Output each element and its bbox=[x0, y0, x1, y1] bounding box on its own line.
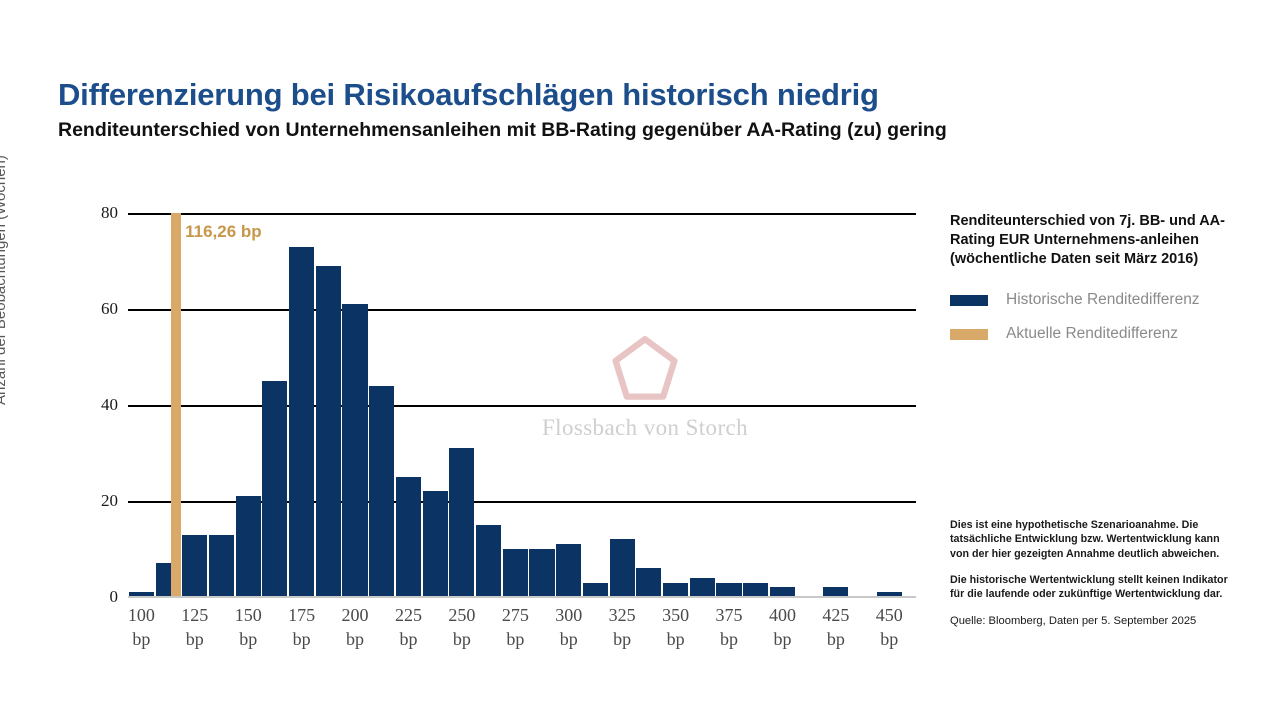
bar bbox=[423, 491, 448, 597]
bar bbox=[476, 525, 501, 597]
x-tick-label: 350bp bbox=[662, 604, 689, 652]
legend-label: Historische Renditedifferenz bbox=[1006, 291, 1200, 309]
legend-title: Renditeunterschied von 7j. BB- und AA-Ra… bbox=[950, 212, 1240, 269]
bar bbox=[690, 578, 715, 597]
bar bbox=[449, 448, 474, 597]
bar bbox=[182, 535, 207, 597]
legend-item[interactable]: Aktuelle Renditedifferenz bbox=[950, 325, 1240, 343]
current-value-marker bbox=[171, 213, 181, 597]
x-tick-label: 375bp bbox=[716, 604, 743, 652]
x-tick-label: 175bp bbox=[288, 604, 315, 652]
x-tick-label: 325bp bbox=[609, 604, 636, 652]
current-value-marker-label: 116,26 bp bbox=[185, 222, 262, 242]
disclaimer-paragraph: Dies ist eine hypothetische Szenarioanah… bbox=[950, 518, 1240, 561]
bar bbox=[529, 549, 554, 597]
bar bbox=[503, 549, 528, 597]
disclaimer-block: Dies ist eine hypothetische Szenarioanah… bbox=[950, 518, 1240, 628]
bar bbox=[556, 544, 581, 597]
y-axis-title: Anzahl der Beobachtungen (Wochen) bbox=[0, 75, 9, 405]
legend-panel: Renditeunterschied von 7j. BB- und AA-Ra… bbox=[950, 212, 1240, 359]
bar bbox=[636, 568, 661, 597]
x-tick-label: 275bp bbox=[502, 604, 529, 652]
legend-items: Historische RenditedifferenzAktuelle Ren… bbox=[950, 291, 1240, 343]
bar bbox=[316, 266, 341, 597]
bar bbox=[236, 496, 261, 597]
x-tick-label: 300bp bbox=[555, 604, 582, 652]
disclaimer-paragraph: Die historische Wertentwicklung stellt k… bbox=[950, 573, 1240, 602]
bar bbox=[262, 381, 287, 597]
bar bbox=[289, 247, 314, 597]
x-tick-label: 450bp bbox=[876, 604, 903, 652]
x-tick-label: 100bp bbox=[128, 604, 155, 652]
x-tick-label: 425bp bbox=[822, 604, 849, 652]
legend-swatch-icon bbox=[950, 329, 988, 340]
disclaimer-paragraphs: Dies ist eine hypothetische Szenarioanah… bbox=[950, 518, 1240, 602]
legend-swatch-icon bbox=[950, 295, 988, 306]
bar bbox=[396, 477, 421, 597]
bar bbox=[716, 583, 741, 597]
plot-area bbox=[128, 213, 916, 597]
y-tick-label: 0 bbox=[110, 587, 119, 607]
y-tick-label: 60 bbox=[101, 299, 118, 319]
x-tick-label: 250bp bbox=[448, 604, 475, 652]
legend-item[interactable]: Historische Renditedifferenz bbox=[950, 291, 1240, 309]
x-tick-label: 200bp bbox=[342, 604, 369, 652]
x-tick-label: 400bp bbox=[769, 604, 796, 652]
bar bbox=[369, 386, 394, 597]
bar-series bbox=[128, 213, 916, 597]
y-tick-label: 40 bbox=[101, 395, 118, 415]
y-tick-label: 20 bbox=[101, 491, 118, 511]
bar bbox=[663, 583, 688, 597]
bar bbox=[610, 539, 635, 597]
bar bbox=[743, 583, 768, 597]
x-tick-label: 150bp bbox=[235, 604, 262, 652]
bar bbox=[209, 535, 234, 597]
legend-label: Aktuelle Renditedifferenz bbox=[1006, 325, 1178, 343]
source-note: Quelle: Bloomberg, Daten per 5. Septembe… bbox=[950, 614, 1240, 629]
x-axis-tick-labels: 100bp125bp150bp175bp200bp225bp250bp275bp… bbox=[128, 604, 916, 660]
bar bbox=[342, 304, 367, 597]
x-axis-baseline bbox=[128, 596, 916, 597]
y-axis-tick-labels: 020406080 bbox=[60, 213, 118, 597]
y-tick-label: 80 bbox=[101, 203, 118, 223]
x-tick-label: 125bp bbox=[181, 604, 208, 652]
bar bbox=[583, 583, 608, 597]
x-tick-label: 225bp bbox=[395, 604, 422, 652]
